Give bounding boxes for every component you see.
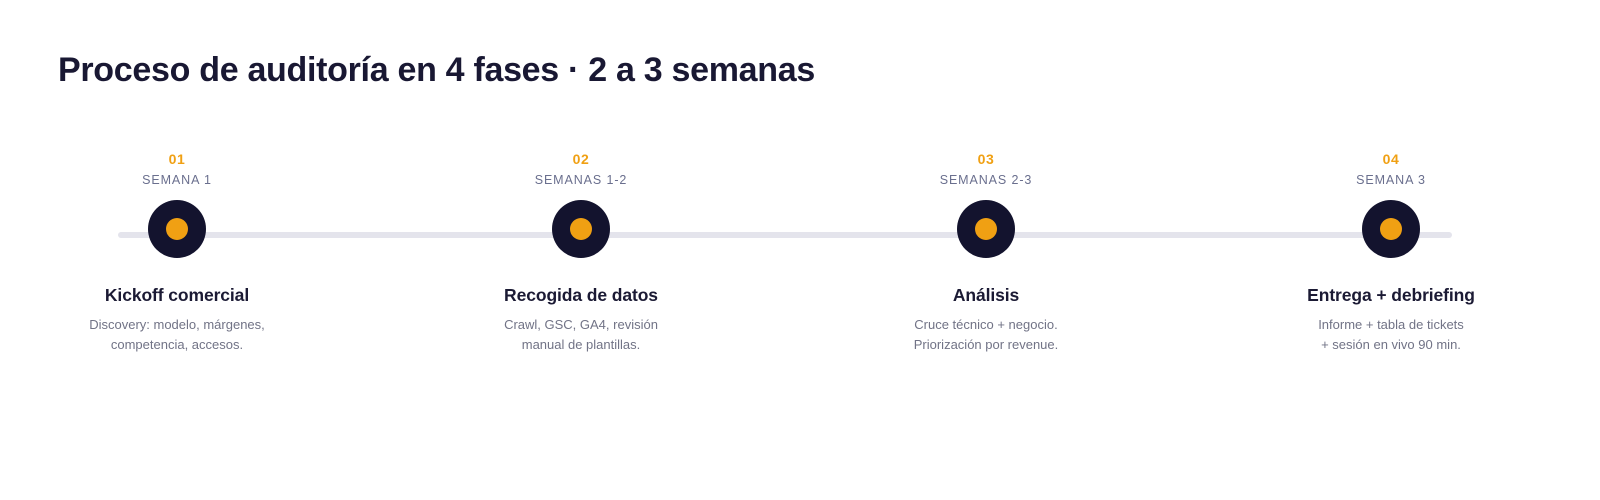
timeline-step[interactable]: 03SEMANAS 2-3AnálisisCruce técnico + neg… [836, 150, 1136, 355]
step-number: 03 [836, 150, 1136, 168]
step-week-label: SEMANAS 2-3 [836, 172, 1136, 188]
step-number: 01 [27, 150, 327, 168]
step-week-label: SEMANAS 1-2 [431, 172, 731, 188]
step-title: Análisis [836, 284, 1136, 306]
step-week-label: SEMANA 3 [1241, 172, 1541, 188]
timeline-step[interactable]: 01SEMANA 1Kickoff comercialDiscovery: mo… [27, 150, 327, 355]
timeline-node-icon[interactable] [148, 200, 206, 258]
timeline-node-icon[interactable] [552, 200, 610, 258]
step-description: Cruce técnico + negocio. Priorización po… [836, 315, 1136, 355]
step-title: Kickoff comercial [27, 284, 327, 306]
timeline-node-dot-icon [570, 218, 592, 240]
step-description: Discovery: modelo, márgenes, competencia… [27, 315, 327, 355]
phase-timeline: 01SEMANA 1Kickoff comercialDiscovery: mo… [0, 150, 1600, 365]
timeline-step[interactable]: 02SEMANAS 1-2Recogida de datosCrawl, GSC… [431, 150, 731, 355]
step-node-wrapper [836, 200, 1136, 258]
step-node-wrapper [1241, 200, 1541, 258]
step-description: Crawl, GSC, GA4, revisión manual de plan… [431, 315, 731, 355]
step-title: Recogida de datos [431, 284, 731, 306]
step-node-wrapper [27, 200, 327, 258]
timeline-node-dot-icon [1380, 218, 1402, 240]
step-week-label: SEMANA 1 [27, 172, 327, 188]
timeline-step[interactable]: 04SEMANA 3Entrega + debriefingInforme + … [1241, 150, 1541, 355]
timeline-page: { "page": { "title": "Proceso de auditor… [0, 0, 1600, 500]
page-title: Proceso de auditoría en 4 fases · 2 a 3 … [58, 48, 815, 92]
step-node-wrapper [431, 200, 731, 258]
step-description: Informe + tabla de tickets + sesión en v… [1241, 315, 1541, 355]
step-number: 02 [431, 150, 731, 168]
step-number: 04 [1241, 150, 1541, 168]
timeline-node-dot-icon [975, 218, 997, 240]
timeline-node-icon[interactable] [1362, 200, 1420, 258]
timeline-node-dot-icon [166, 218, 188, 240]
step-title: Entrega + debriefing [1241, 284, 1541, 306]
timeline-node-icon[interactable] [957, 200, 1015, 258]
